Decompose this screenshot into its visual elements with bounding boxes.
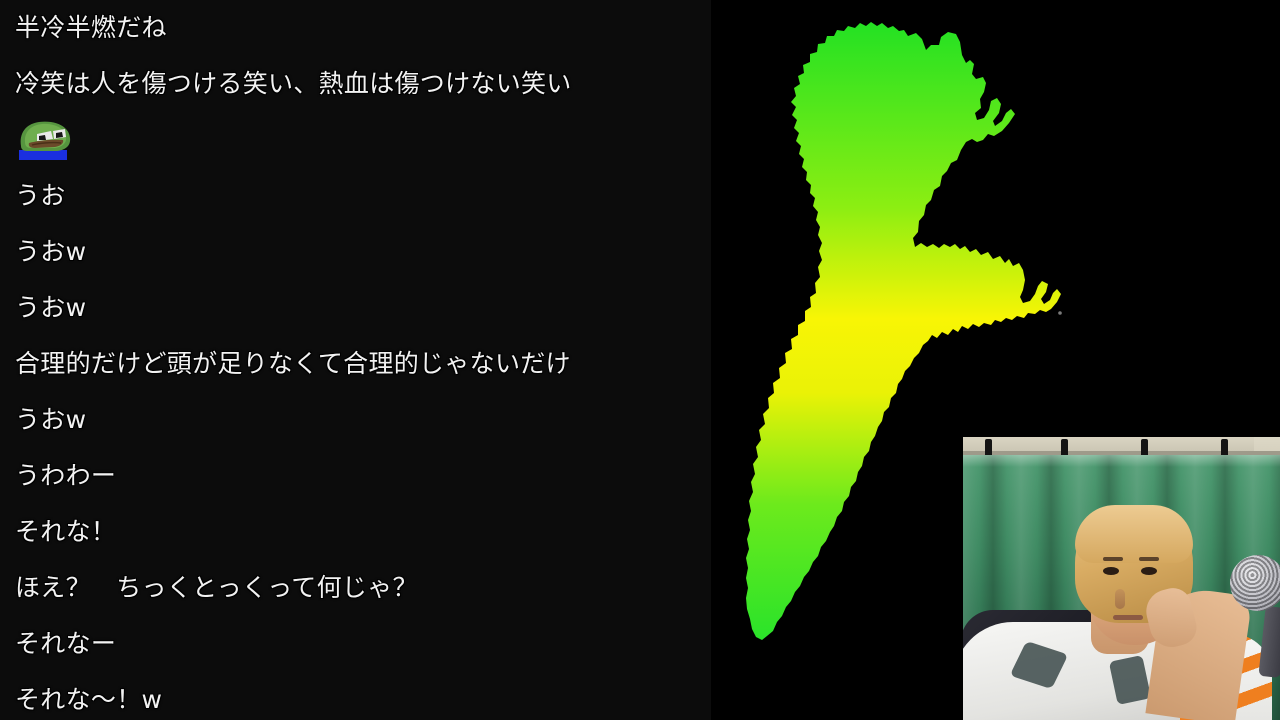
eye-right xyxy=(1141,567,1157,575)
chat-message-text: うお xyxy=(15,181,66,211)
chat-message-8[interactable]: うおw xyxy=(0,392,712,448)
chat-message-text: それな〜！w xyxy=(15,685,162,715)
chat-message-5[interactable]: うおw xyxy=(0,224,712,280)
chat-message-11[interactable]: ほえ？ ちっくとっくって何じゃ？ xyxy=(0,560,712,616)
eye-left xyxy=(1103,567,1119,575)
pepe-emote-icon xyxy=(15,116,75,160)
chat-message-13[interactable]: それな〜！w xyxy=(0,672,712,720)
eyebrow-left xyxy=(1103,557,1123,561)
curtain-highlight xyxy=(963,455,1280,467)
island-dot xyxy=(1058,311,1062,315)
chat-message-text: うおw xyxy=(15,237,86,267)
chat-message-7[interactable]: 合理的だけど頭が足りなくて合理的じゃないだけ xyxy=(0,336,712,392)
chat-message-text: それなー xyxy=(15,629,116,659)
stream-canvas: 半冷半燃だね 冷笑は人を傷つける笑い、熱血は傷つけない笑い うお うおw うおw xyxy=(0,0,1280,720)
chat-message-10[interactable]: それな！ xyxy=(0,504,712,560)
mouth xyxy=(1113,615,1143,620)
chat-message-text: ほえ？ ちっくとっくって何じゃ？ xyxy=(15,573,418,603)
chat-message-text: うわわー xyxy=(15,461,116,491)
nose xyxy=(1115,589,1125,609)
chat-message-text: うおw xyxy=(15,405,86,435)
chat-message-4[interactable]: うお xyxy=(0,168,712,224)
chat-message-text: 合理的だけど頭が足りなくて合理的じゃないだけ xyxy=(15,349,571,379)
chat-message-2[interactable]: 冷笑は人を傷つける笑い、熱血は傷つけない笑い xyxy=(0,56,712,112)
chat-message-text: うおw xyxy=(15,293,86,323)
microphone-icon xyxy=(1230,555,1280,611)
streamer-webcam[interactable] xyxy=(963,437,1280,720)
chat-message-3[interactable] xyxy=(0,112,712,168)
eyebrow-right xyxy=(1139,557,1159,561)
chat-message-9[interactable]: うわわー xyxy=(0,448,712,504)
chat-message-12[interactable]: それなー xyxy=(0,616,712,672)
chat-message-6[interactable]: うおw xyxy=(0,280,712,336)
chat-message-1[interactable]: 半冷半燃だね xyxy=(0,0,712,56)
streamer-bangs xyxy=(1075,505,1193,563)
chat-message-text: 冷笑は人を傷つける笑い、熱血は傷つけない笑い xyxy=(15,69,572,99)
chat-message-list[interactable]: 半冷半燃だね 冷笑は人を傷つける笑い、熱血は傷つけない笑い うお うおw うおw xyxy=(0,0,712,720)
chat-message-text: それな！ xyxy=(15,517,116,547)
chat-message-text: 半冷半燃だね xyxy=(15,13,167,43)
chat-panel[interactable]: 半冷半燃だね 冷笑は人を傷つける笑い、熱血は傷つけない笑い うお うおw うおw xyxy=(0,0,712,720)
